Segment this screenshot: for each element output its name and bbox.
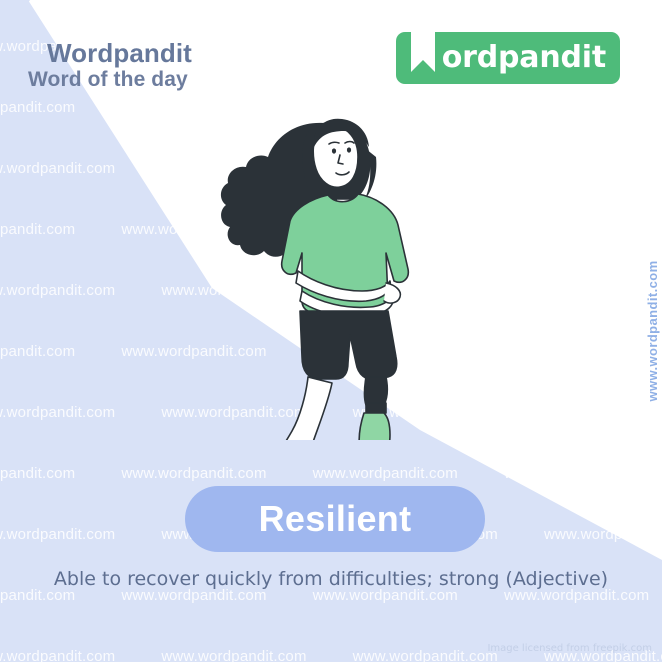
shorts (300, 311, 397, 379)
illustration-woman-with-prosthetic-leg (216, 95, 446, 440)
word-text: Resilient (259, 498, 412, 540)
prosthetic-socket-top (365, 377, 388, 405)
hand (384, 283, 400, 303)
illustration-svg (216, 95, 446, 440)
eye-left (332, 148, 336, 153)
image-credit: Image licensed from freepik.com (487, 643, 652, 654)
page-subtitle: Word of the day (28, 68, 188, 92)
vertical-website-url: www.wordpandit.com (645, 260, 660, 401)
prosthetic-calf (359, 413, 390, 440)
bookmark-icon (410, 26, 436, 74)
wordpandit-logo[interactable]: ordpandit (396, 32, 620, 84)
page-title: Wordpandit (47, 38, 192, 69)
word-of-the-day-card: www.wordpandit.comwww.wordpandit.comwww.… (0, 0, 662, 662)
word-definition: Able to recover quickly from difficultie… (0, 568, 662, 590)
word-of-the-day-badge: Resilient (185, 486, 485, 552)
leg-natural (273, 377, 332, 440)
prosthetic-connector (366, 403, 386, 413)
eye-right (347, 147, 351, 152)
logo-text: ordpandit (442, 43, 606, 73)
